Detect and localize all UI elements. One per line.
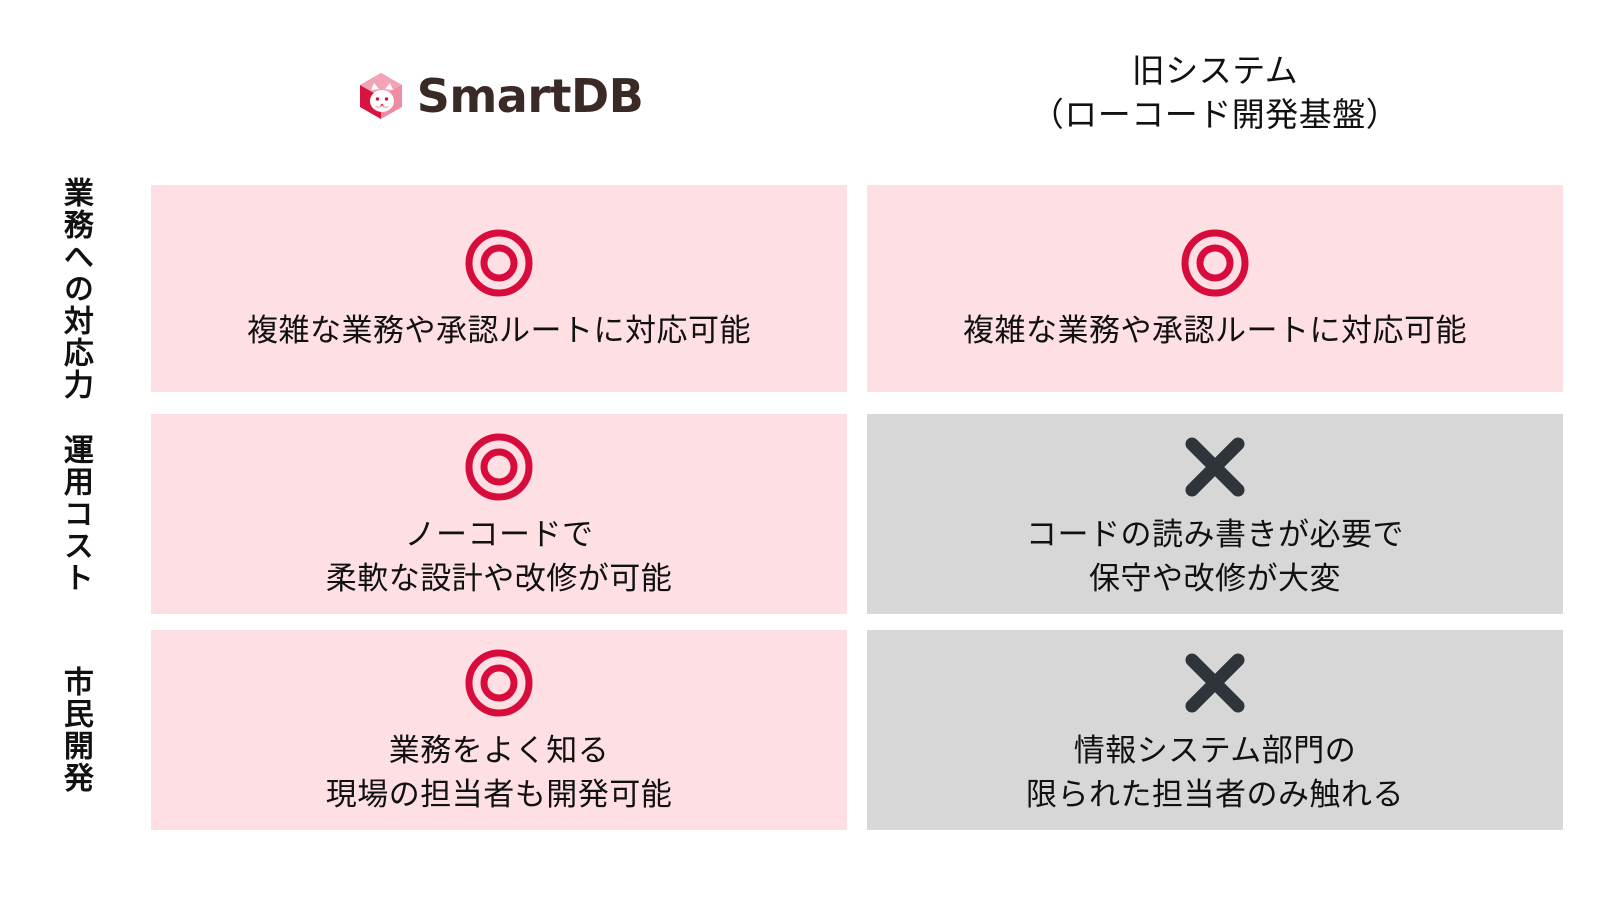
legacy-title-main: 旧システム <box>1132 52 1299 89</box>
smartdb-wordmark: SmartDB <box>417 73 644 119</box>
cell-smartdb-operation-cost: ノーコードで 柔軟な設計や改修が可能 <box>151 414 847 614</box>
cell-smartdb-business-capability: 複雑な業務や承認ルートに対応可能 <box>151 185 847 392</box>
cell-text: コードの読み書きが必要で 保守や改修が大変 <box>1026 513 1404 601</box>
cross-mark-icon <box>1179 643 1251 723</box>
column-header-legacy: 旧システム （ローコード開発基盤） <box>867 0 1563 185</box>
comparison-table: SmartDB 旧システム （ローコード開発基盤） 業務への対応力 運用コスト … <box>0 0 1600 900</box>
double-circle-icon <box>463 643 535 723</box>
smartdb-logo: SmartDB <box>355 70 644 122</box>
double-circle-icon <box>1179 223 1251 303</box>
table-header: SmartDB 旧システム （ローコード開発基盤） <box>0 0 1600 185</box>
double-circle-icon <box>463 427 535 507</box>
row-label-business-capability: 業務への対応力 <box>44 185 106 392</box>
smartdb-cube-logo-icon <box>355 70 407 122</box>
double-circle-icon <box>463 223 535 303</box>
cell-legacy-operation-cost: コードの読み書きが必要で 保守や改修が大変 <box>867 414 1563 614</box>
legacy-title-sub: （ローコード開発基盤） <box>1031 93 1400 137</box>
cell-legacy-citizen-development: 情報システム部門の 限られた担当者のみ触れる <box>867 630 1563 830</box>
cell-text: 情報システム部門の 限られた担当者のみ触れる <box>1026 729 1404 817</box>
cell-text: 複雑な業務や承認ルートに対応可能 <box>963 309 1467 353</box>
cell-legacy-business-capability: 複雑な業務や承認ルートに対応可能 <box>867 185 1563 392</box>
column-header-smartdb: SmartDB <box>151 0 847 185</box>
legacy-system-title: 旧システム （ローコード開発基盤） <box>1031 49 1400 137</box>
cell-text: 業務をよく知る 現場の担当者も開発可能 <box>326 729 673 817</box>
row-label-citizen-development: 市民開発 <box>44 630 106 830</box>
cross-mark-icon <box>1179 427 1251 507</box>
cell-smartdb-citizen-development: 業務をよく知る 現場の担当者も開発可能 <box>151 630 847 830</box>
cell-text: ノーコードで 柔軟な設計や改修が可能 <box>326 513 673 601</box>
cell-text: 複雑な業務や承認ルートに対応可能 <box>247 309 751 353</box>
row-label-operation-cost: 運用コスト <box>44 414 106 614</box>
